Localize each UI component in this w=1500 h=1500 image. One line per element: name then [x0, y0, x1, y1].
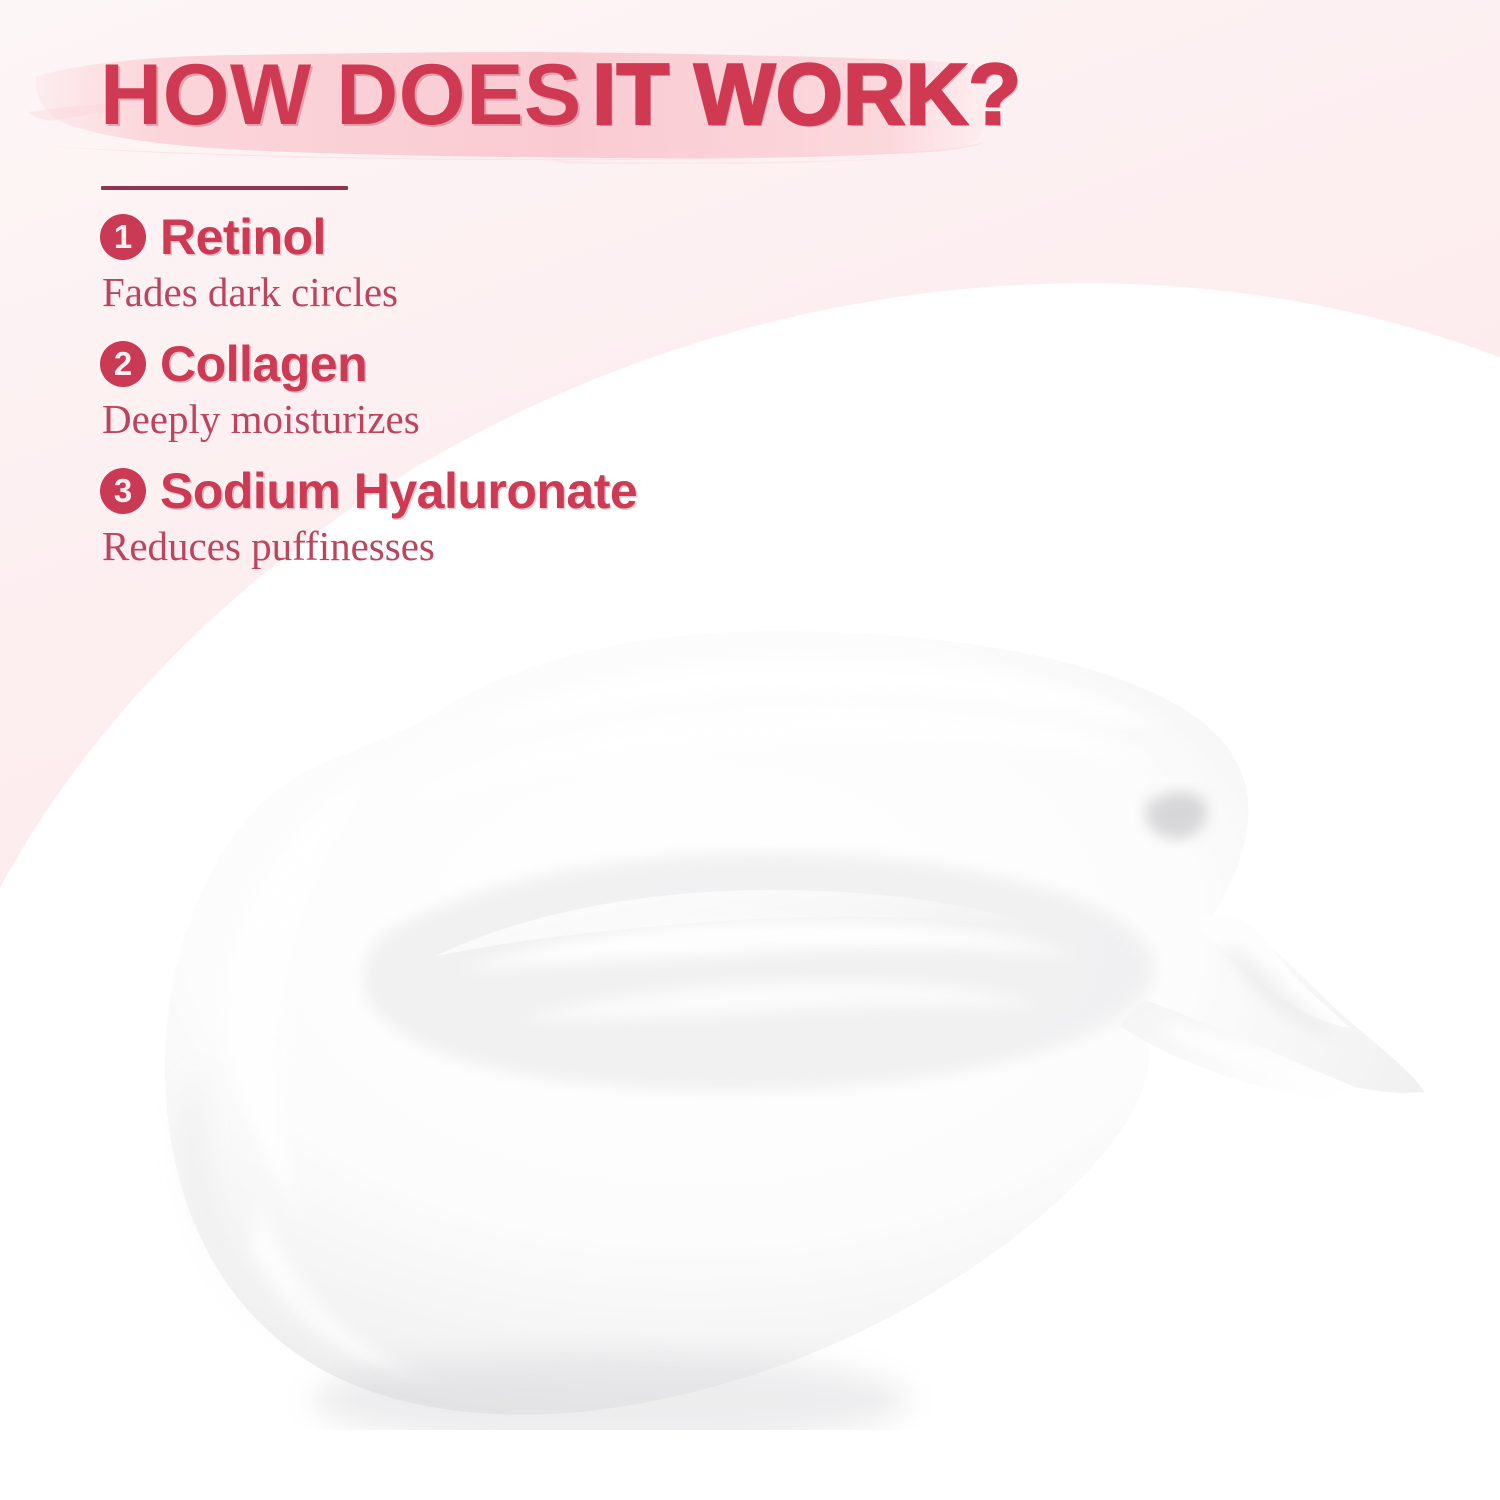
benefit-heading: 3 Sodium Hyaluronate: [100, 466, 1000, 516]
page-title-part-2: IT WORK?: [592, 47, 1021, 143]
infographic-canvas: HOW DOES IT WORK? 1 Retinol Fades dark c…: [0, 0, 1500, 1500]
number-badge-icon: 1: [100, 214, 146, 260]
benefit-subtitle: Reduces puffinesses: [102, 524, 1000, 569]
list-item: 2 Collagen Deeply moisturizes: [100, 339, 1000, 442]
benefit-subtitle: Fades dark circles: [102, 270, 1000, 315]
benefit-heading: 2 Collagen: [100, 339, 1000, 389]
benefit-title: Retinol: [160, 212, 326, 262]
list-item: 1 Retinol Fades dark circles: [100, 212, 1000, 315]
benefit-heading: 1 Retinol: [100, 212, 1000, 262]
number-badge-icon: 2: [100, 341, 146, 387]
benefit-title: Collagen: [160, 339, 367, 389]
benefit-title: Sodium Hyaluronate: [160, 466, 637, 516]
title-divider-rule: [101, 186, 348, 190]
list-item: 3 Sodium Hyaluronate Reduces puffinesses: [100, 466, 1000, 569]
page-title: HOW DOES IT WORK?: [100, 52, 1021, 138]
benefit-subtitle: Deeply moisturizes: [102, 397, 1000, 442]
page-title-part-1: HOW DOES: [100, 47, 582, 143]
number-badge-icon: 3: [100, 468, 146, 514]
white-bottom-band: [0, 1320, 1500, 1500]
benefits-list: 1 Retinol Fades dark circles 2 Collagen …: [100, 212, 1000, 593]
